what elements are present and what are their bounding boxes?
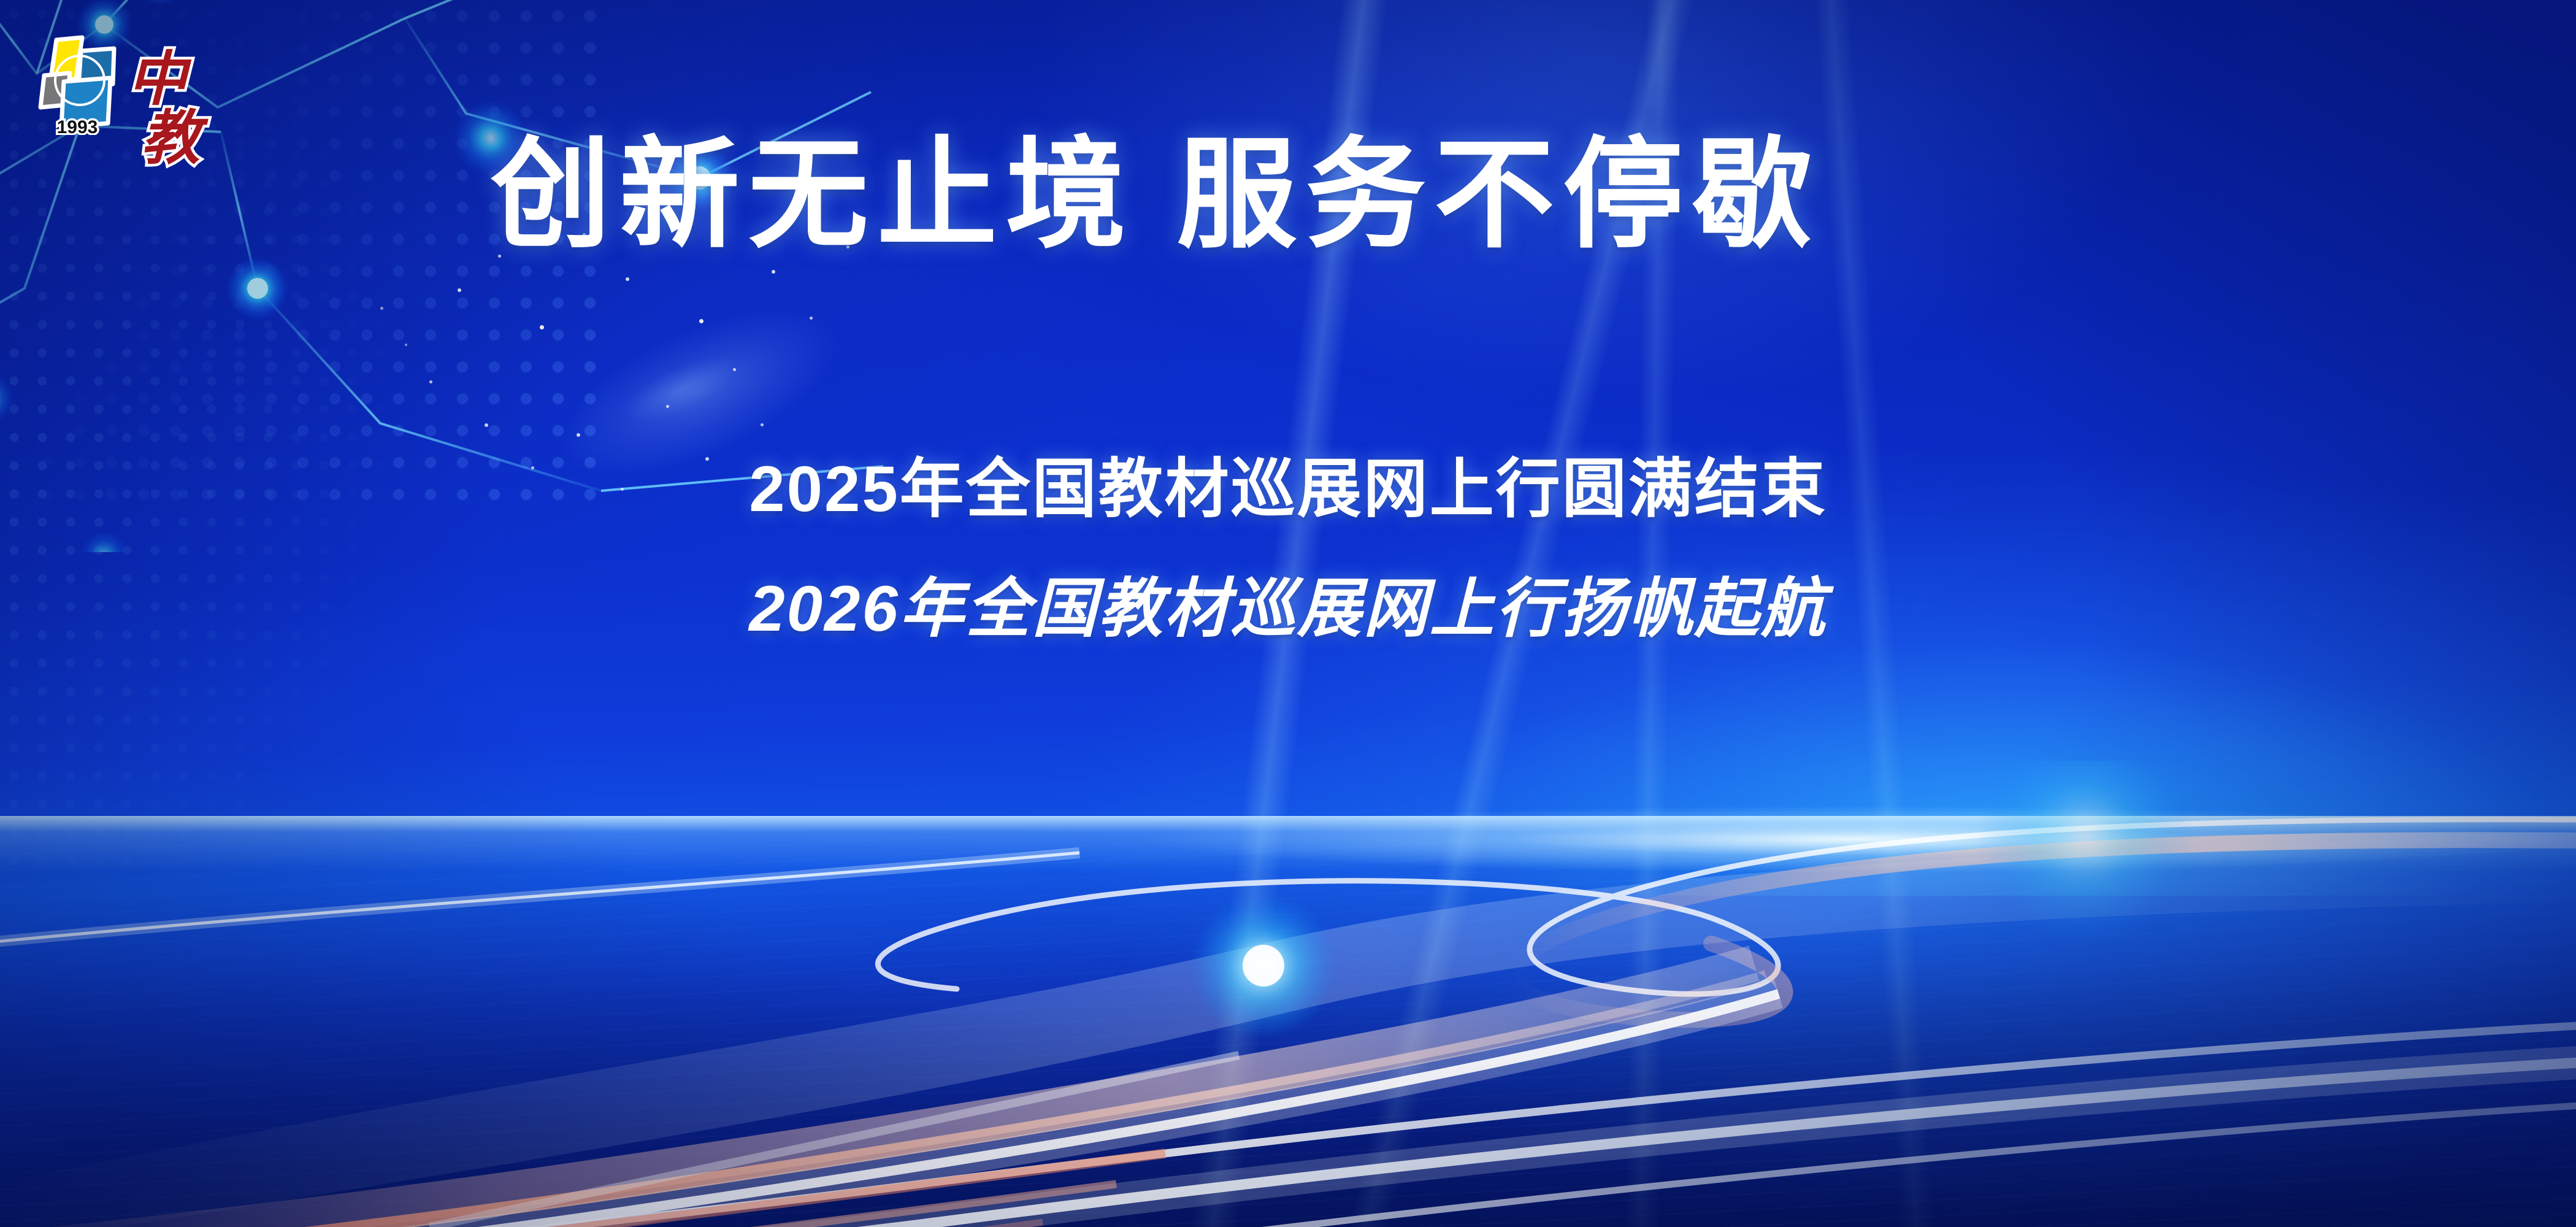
logo-mark-icon: 1993 (36, 34, 121, 135)
logo-year: 1993 (57, 117, 98, 135)
event-banner: 1993 中教 创新无止境 服务不停歇 2025年全国教材巡展网上行圆满结束 2… (0, 0, 2576, 1227)
logo-char-zhong: 中 (128, 50, 186, 109)
brand-logo[interactable]: 1993 中教 (36, 34, 201, 135)
subtitle-line-2025: 2025年全国教材巡展网上行圆满结束 (0, 457, 2576, 521)
logo-wordmark: 中教 (128, 50, 201, 167)
subtitle-line-2026: 2026年全国教材巡展网上行扬帆起航 (0, 577, 2576, 641)
logo-char-jiao: 教 (141, 109, 200, 167)
light-trail-road (0, 761, 2576, 1227)
page-title: 创新无止境 服务不停歇 (491, 130, 2318, 260)
subtitle-group: 2025年全国教材巡展网上行圆满结束 2026年全国教材巡展网上行扬帆起航 (0, 457, 2576, 641)
